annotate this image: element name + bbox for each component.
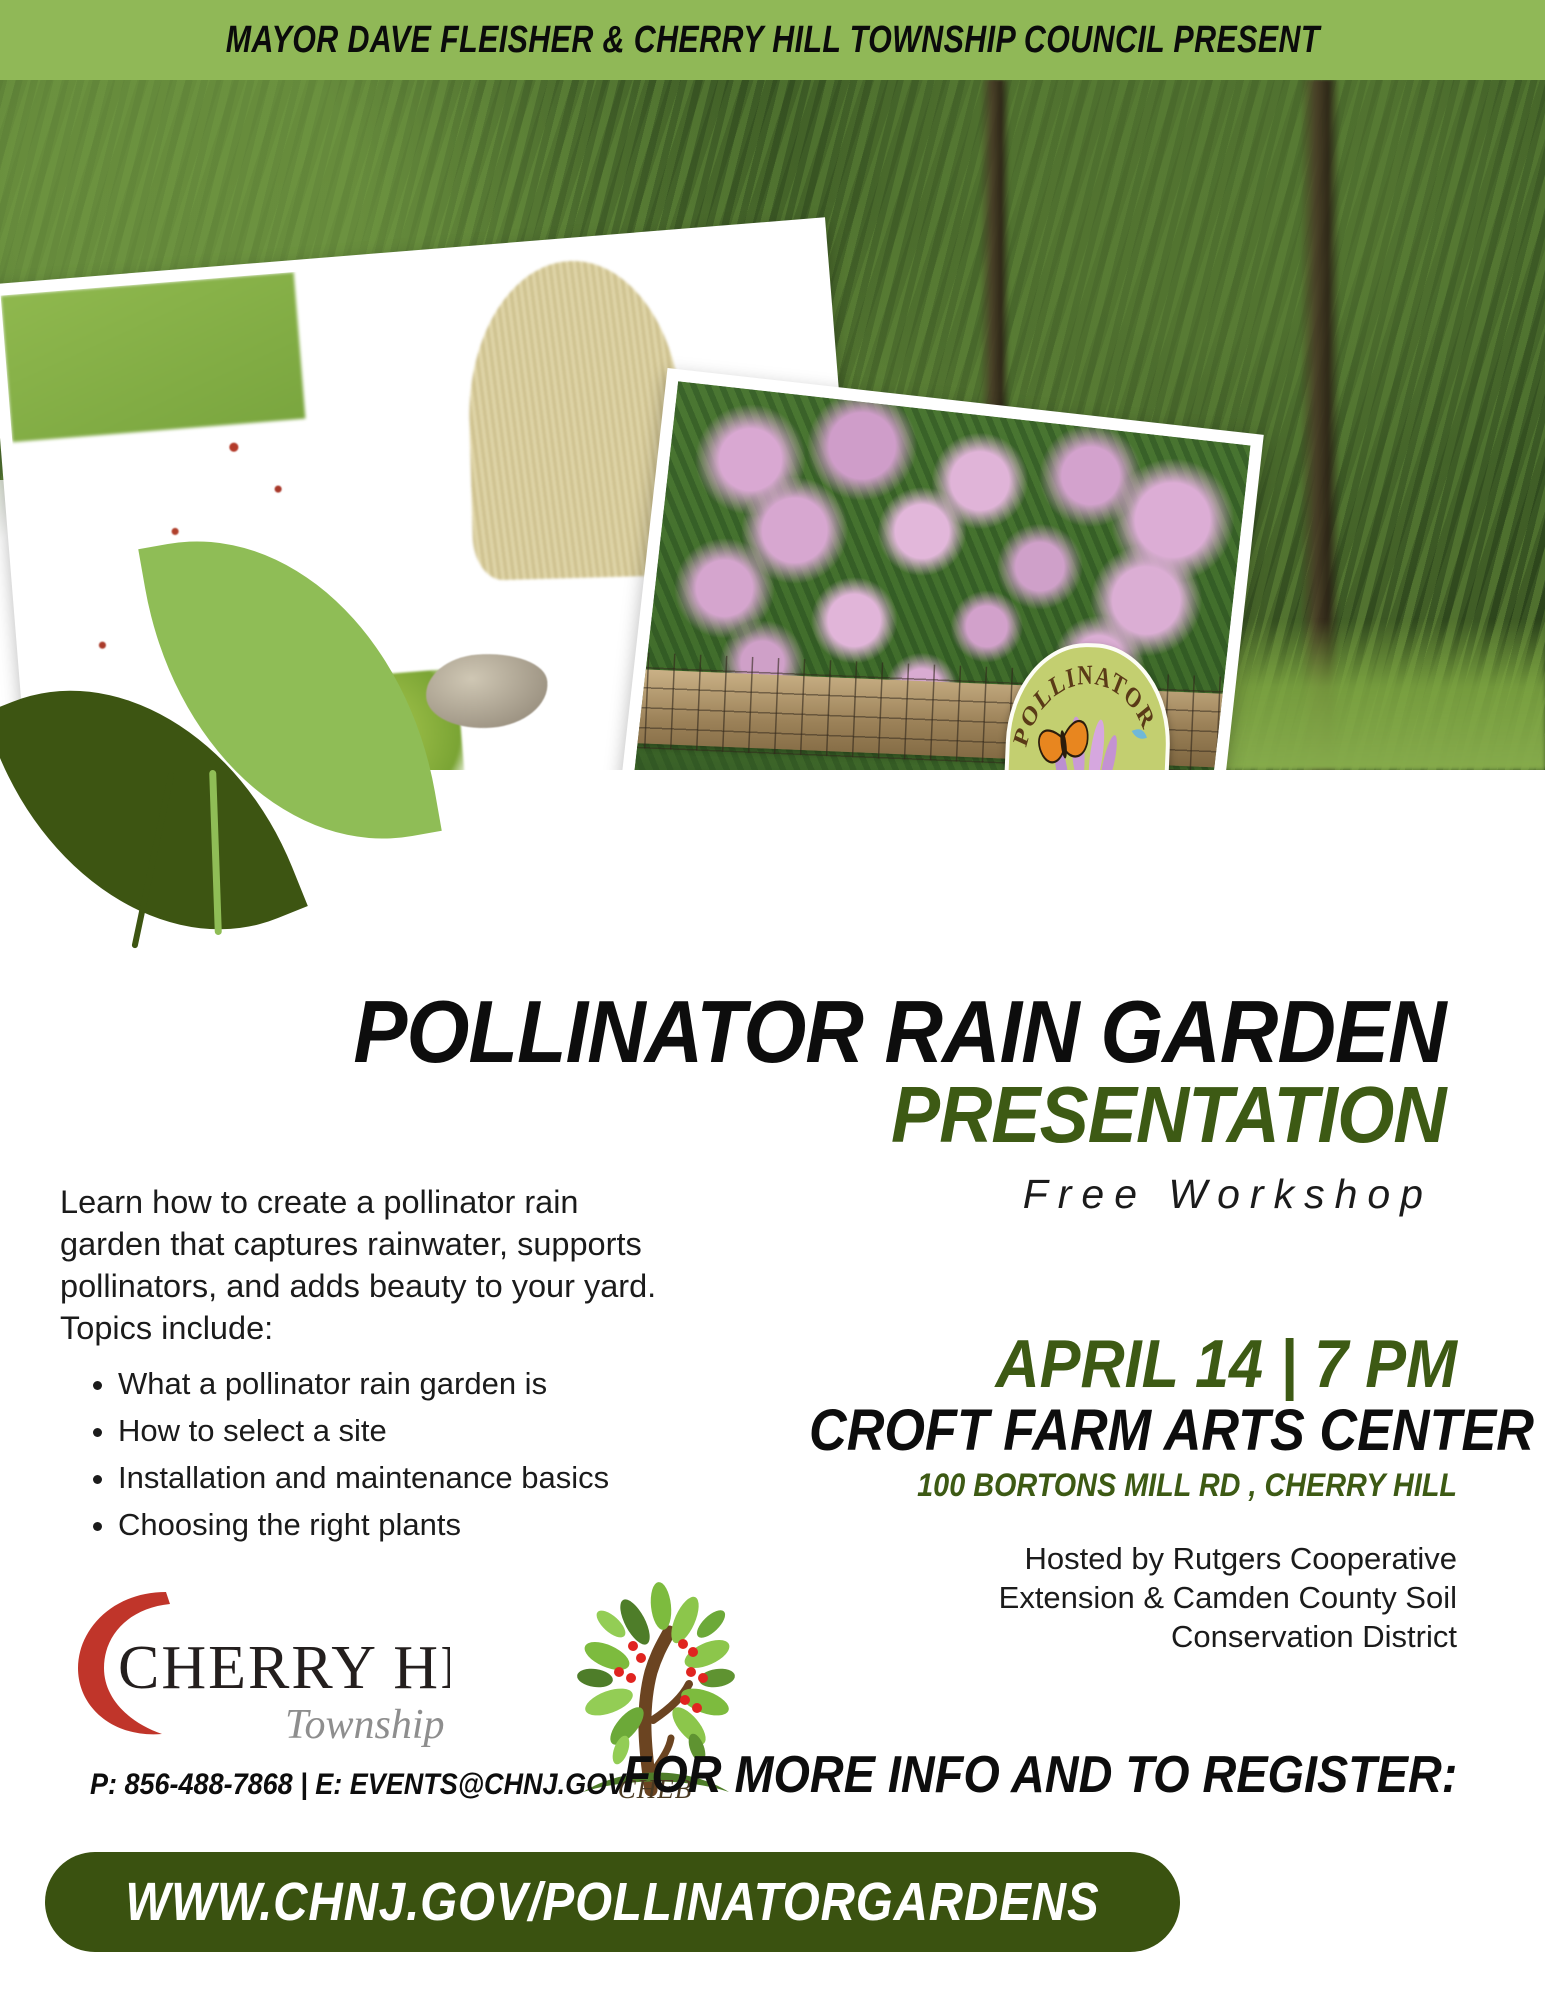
list-item: Installation and maintenance basics	[118, 1456, 758, 1500]
list-item: How to select a site	[118, 1409, 758, 1453]
register-cta: FOR MORE INFO AND TO REGISTER:	[622, 1745, 1457, 1805]
list-item: What a pollinator rain garden is	[118, 1362, 758, 1406]
page-subtitle: PRESENTATION	[124, 1076, 1545, 1154]
bee-balm-photo: POLLINATOR HABITAT	[616, 368, 1264, 770]
description-text: Learn how to create a pollinator rain ga…	[60, 1181, 680, 1350]
banner-title: MAYOR DAVE FLEISHER & CHERRY HILL TOWNSH…	[225, 19, 1319, 62]
cherry-hill-township-logo: CHERRY HILL Township	[70, 1570, 450, 1760]
habitat-sign-artwork: POLLINATOR HABITAT	[1006, 644, 1170, 770]
event-address: 100 BORTONS MILL RD , CHERRY HILL	[809, 1468, 1457, 1503]
page-title: POLLINATOR RAIN GARDEN	[124, 990, 1545, 1074]
url-bar[interactable]: WWW.CHNJ.GOV/POLLINATORGARDENS	[45, 1852, 1180, 1952]
township-script: Township	[285, 1702, 445, 1748]
topics-list: What a pollinator rain garden is How to …	[72, 1362, 758, 1550]
cherry-hill-logo-artwork: CHERRY HILL Township	[70, 1570, 450, 1760]
url-text[interactable]: WWW.CHNJ.GOV/POLLINATORGARDENS	[125, 1871, 1099, 1933]
cherry-hill-wordmark: CHERRY HILL	[118, 1634, 450, 1702]
event-details: APRIL 14 | 7 PM CROFT FARM ARTS CENTER 1…	[737, 1330, 1457, 1503]
event-date-time: APRIL 14 | 7 PM	[809, 1330, 1457, 1399]
bee-balm-photo-inner: POLLINATOR HABITAT	[629, 381, 1250, 770]
pollinator-habitat-sign: POLLINATOR HABITAT	[1002, 640, 1174, 770]
top-banner: MAYOR DAVE FLEISHER & CHERRY HILL TOWNSH…	[0, 0, 1545, 80]
hosted-by-text: Hosted by Rutgers Cooperative Extension …	[977, 1540, 1457, 1656]
contact-line: P: 856-488-7868 | E: EVENTS@CHNJ.GOV	[90, 1768, 625, 1802]
event-venue: CROFT FARM ARTS CENTER	[809, 1401, 1457, 1461]
list-item: Choosing the right plants	[118, 1503, 758, 1547]
